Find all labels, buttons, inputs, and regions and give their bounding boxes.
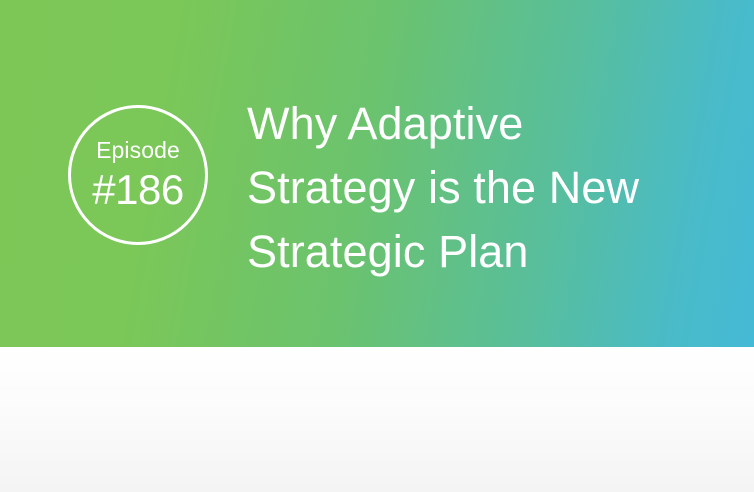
episode-title-line-3: Strategic Plan xyxy=(247,220,727,284)
episode-title: Why Adaptive Strategy is the New Strateg… xyxy=(247,92,727,284)
hero-gradient-banner: Episode #186 Why Adaptive Strategy is th… xyxy=(0,0,754,347)
episode-title-line-2: Strategy is the New xyxy=(247,156,727,220)
episode-title-line-1: Why Adaptive xyxy=(247,92,727,156)
podcast-episode-card: Episode #186 Why Adaptive Strategy is th… xyxy=(0,0,754,492)
footer-branding-bar: ALL social good, ALL THE TIME THE sg ENG… xyxy=(0,347,754,492)
episode-label: Episode xyxy=(96,139,180,162)
episode-number: #186 xyxy=(92,169,183,211)
episode-badge-circle: Episode #186 xyxy=(68,105,208,245)
